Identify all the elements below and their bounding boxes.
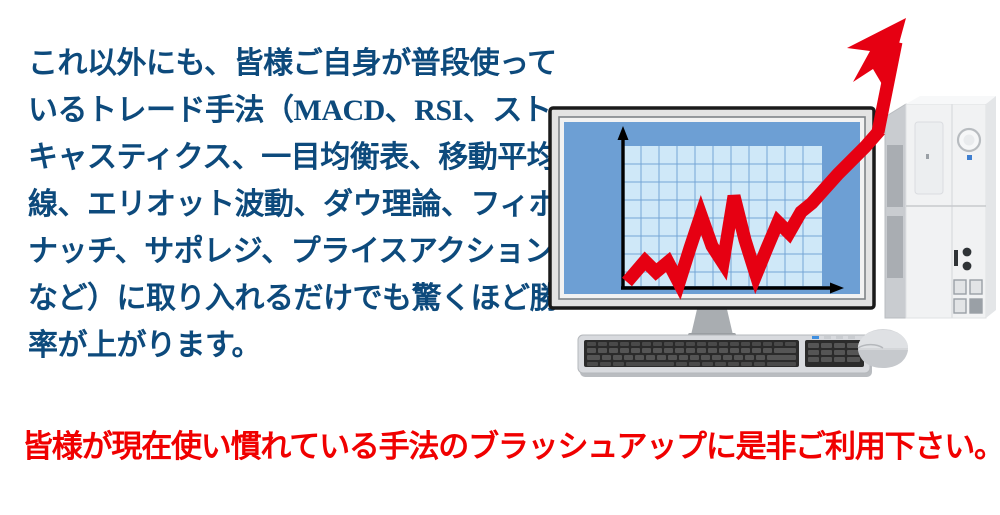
body-copy-line: キャスティクス、一目均衡表、移動平均: [28, 134, 528, 181]
body-copy-line: これ以外にも、皆様ご自身が普段使って: [28, 40, 528, 87]
keyboard-icon: [578, 335, 872, 377]
computer-illustration: [520, 0, 1000, 400]
body-copy-line: ナッチ、サポレジ、プライスアクション: [28, 228, 528, 275]
monitor: [550, 108, 874, 308]
body-copy-line: 率が上がります。: [28, 322, 528, 369]
tagline-text: 皆様が現在使い慣れている手法のブラッシュアップに是非ご利用下さい。: [22, 428, 982, 466]
body-copy-block: これ以外にも、皆様ご自身が普段使って いるトレード手法（MACD、RSI、スト …: [28, 40, 528, 369]
body-copy-line: いるトレード手法（MACD、RSI、スト: [28, 87, 528, 134]
body-copy-line: など）に取り入れるだけでも驚くほど勝: [28, 275, 528, 322]
monitor-stand: [688, 305, 736, 338]
pc-tower-icon: [885, 96, 996, 318]
body-copy-line: 線、エリオット波動、ダウ理論、フィボ: [28, 181, 528, 228]
poster-canvas: これ以外にも、皆様ご自身が普段使って いるトレード手法（MACD、RSI、スト …: [0, 0, 1000, 515]
mouse-icon: [858, 329, 908, 368]
tagline-block: 皆様が現在使い慣れている手法のブラッシュアップに是非ご利用下さい。: [22, 428, 982, 466]
